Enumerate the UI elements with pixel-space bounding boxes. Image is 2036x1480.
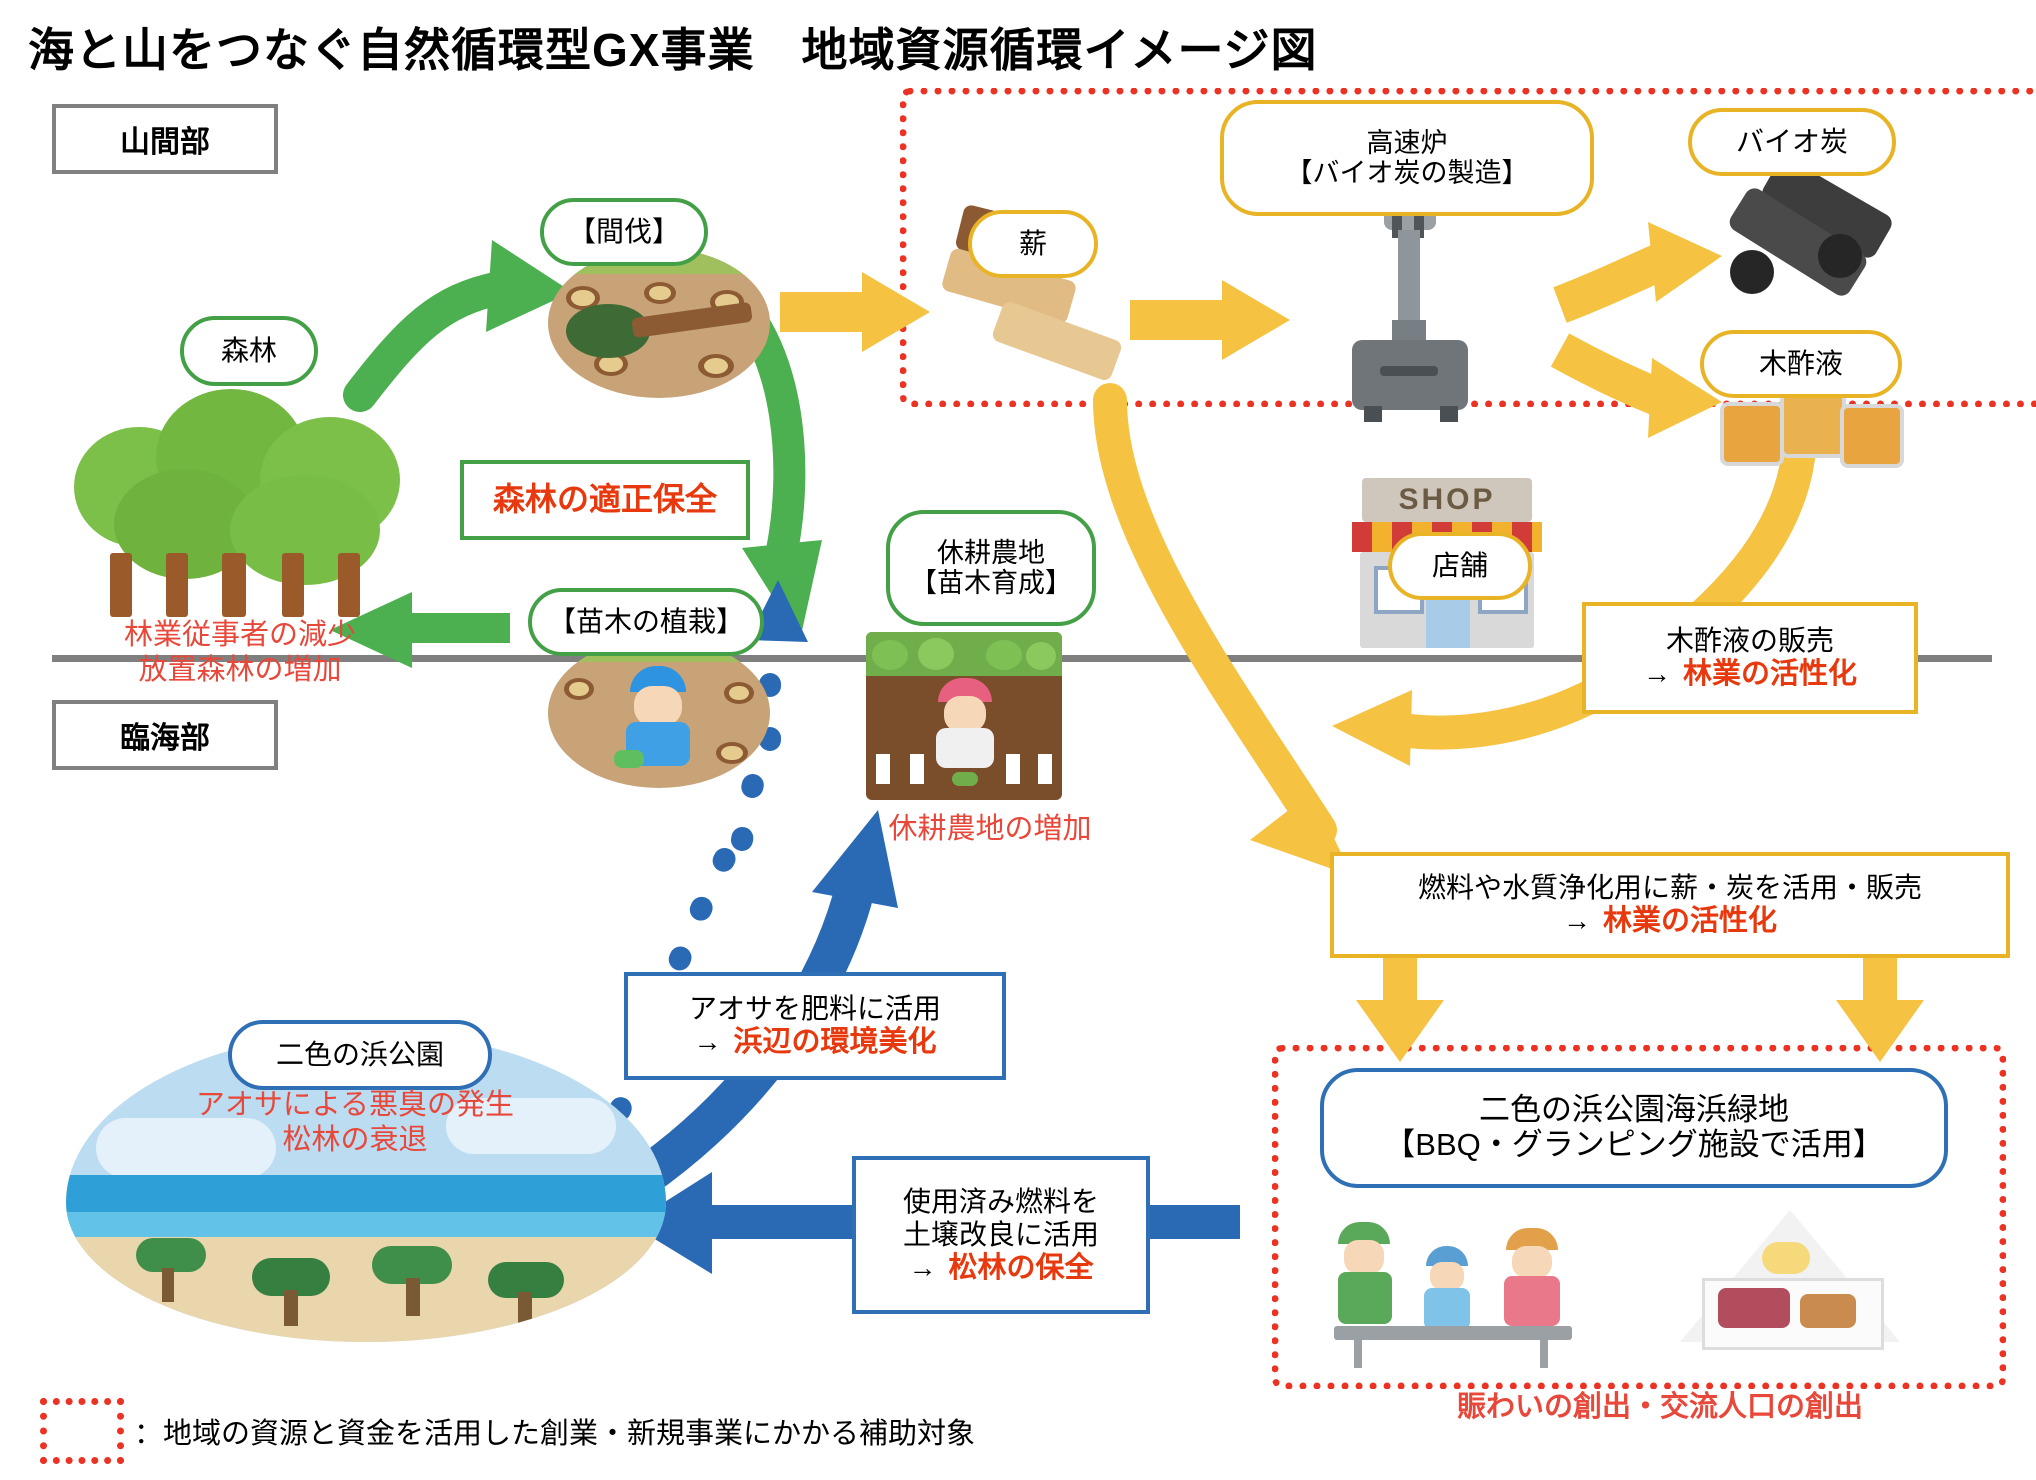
label-forest[interactable]: 森林 (180, 316, 318, 386)
coastal-green-line-2: 【BBQ・グランピング施設で活用】 (1384, 1128, 1883, 1163)
seedling-planting-illustration (548, 638, 770, 788)
label-firewood[interactable]: 薪 (968, 210, 1098, 278)
label-wood-vinegar[interactable]: 木酢液 (1700, 330, 1902, 398)
uf-line-2: 土壌改良に活用 (903, 1218, 1099, 1251)
label-fallow-farmland[interactable]: 休耕農地 【苗木育成】 (886, 510, 1096, 626)
uf-arrow: → (908, 1251, 936, 1284)
callout-wood-vinegar-sale: 木酢液の販売 → 林業の活性化 (1582, 602, 1918, 714)
note-forest-problem: 林業従事者の減少 放置森林の増加 (70, 618, 410, 688)
shop-sign-text: SHOP (1362, 478, 1532, 522)
wv-result: 林業の活性化 (1683, 657, 1857, 691)
callout-fuel-water: 燃料や水質浄化用に薪・炭を活用・販売 → 林業の活性化 (1330, 852, 2010, 958)
furnace-line-1: 高速炉 (1367, 128, 1448, 158)
note-fallow-problem: 休耕農地の増加 (860, 812, 1120, 847)
wv-line-1: 木酢液の販売 (1666, 624, 1834, 657)
fw-arrow: → (1563, 904, 1591, 937)
beach-problem-line-1: アオサによる悪臭の発生 (120, 1088, 590, 1123)
fw-line-1: 燃料や水質浄化用に薪・炭を活用・販売 (1418, 871, 1922, 904)
bbq-glamping-illustration (1330, 1200, 1620, 1370)
label-fast-furnace[interactable]: 高速炉 【バイオ炭の製造】 (1220, 100, 1594, 216)
label-seedling-planting[interactable]: 【苗木の植栽】 (528, 588, 764, 656)
callout-used-fuel-soil: 使用済み燃料を 土壌改良に活用 → 松林の保全 (852, 1156, 1150, 1314)
glamping-tent-illustration (1650, 1182, 1940, 1370)
wood-vinegar-illustration (1716, 388, 1906, 478)
af-line-1: アオサを肥料に活用 (689, 992, 941, 1025)
furnace-line-2: 【バイオ炭の製造】 (1286, 158, 1529, 188)
label-thinning[interactable]: 【間伐】 (540, 198, 708, 266)
af-arrow: → (693, 1025, 721, 1058)
label-coastal-green[interactable]: 二色の浜公園海浜緑地 【BBQ・グランピング施設で活用】 (1320, 1068, 1948, 1188)
callout-forest-conservation: 森林の適正保全 (460, 460, 750, 540)
forest-problem-line-2: 放置森林の増加 (70, 653, 410, 688)
biochar-illustration (1722, 178, 1932, 308)
fallow-farmland-illustration (866, 632, 1062, 800)
wv-arrow: → (1643, 657, 1671, 690)
fw-result: 林業の活性化 (1603, 904, 1777, 938)
uf-line-1: 使用済み燃料を (903, 1185, 1099, 1218)
note-bbq-result: 賑わいの創出・交流人口の創出 (1380, 1390, 1940, 1425)
beach-problem-line-2: 松林の衰退 (120, 1123, 590, 1158)
forest-illustration (70, 365, 410, 620)
forest-problem-line-1: 林業従事者の減少 (70, 618, 410, 653)
uf-result: 松林の保全 (948, 1251, 1093, 1285)
coastal-green-line-1: 二色の浜公園海浜緑地 (1479, 1093, 1789, 1128)
af-result: 浜辺の環境美化 (733, 1025, 936, 1059)
fast-furnace-illustration (1330, 208, 1490, 428)
forest-conservation-text: 森林の適正保全 (493, 481, 717, 519)
note-beach-problem: アオサによる悪臭の発生 松林の衰退 (120, 1088, 590, 1158)
fallow-line-2: 【苗木育成】 (910, 568, 1072, 598)
label-nishikinohama-park[interactable]: 二色の浜公園 (228, 1020, 492, 1090)
label-shop[interactable]: 店舗 (1388, 532, 1532, 600)
fallow-line-1: 休耕農地 (937, 538, 1045, 568)
thinning-plot-illustration (548, 248, 770, 398)
callout-aosa-fertilizer: アオサを肥料に活用 → 浜辺の環境美化 (624, 972, 1006, 1080)
label-biochar[interactable]: バイオ炭 (1688, 108, 1896, 176)
